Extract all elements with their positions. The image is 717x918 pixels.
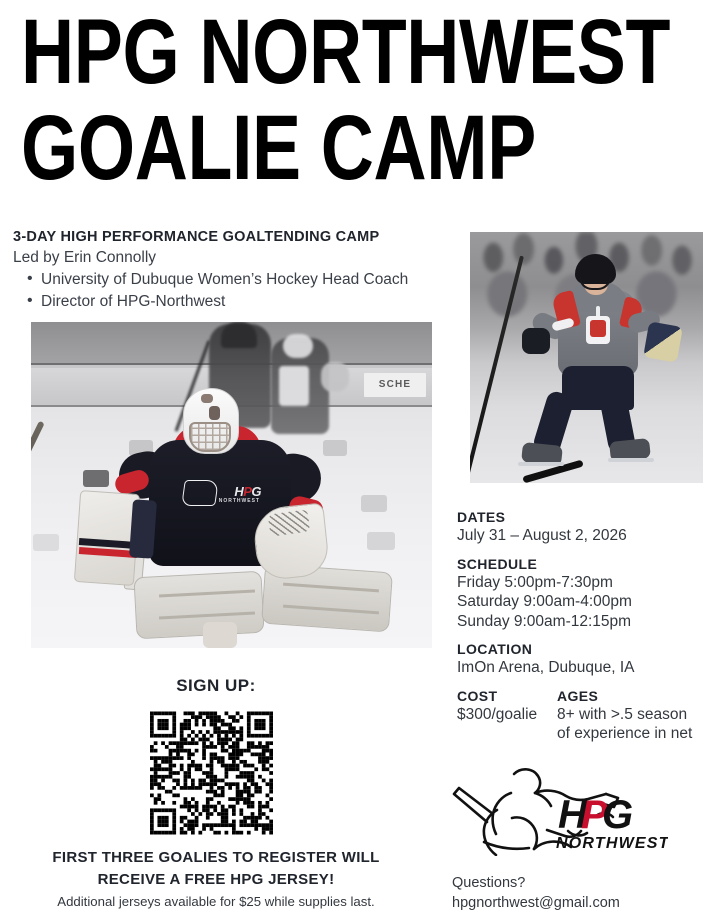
crest-letter-h: H (234, 484, 243, 499)
hpg-northwest-logo: H P G NORTHWEST (450, 756, 668, 856)
list-item: Director of HPG-Northwest (13, 291, 473, 313)
crest-letter-g: G (251, 484, 261, 499)
crest-goalie-icon (181, 480, 219, 506)
coach-blocker (643, 321, 683, 362)
schedule-saturday: Saturday 9:00am-4:00pm (457, 592, 709, 612)
puck (323, 440, 347, 456)
contact-email[interactable]: hpgnorthwest@gmail.com (452, 893, 702, 913)
background-player-two-glove (321, 362, 349, 392)
flyer-page: HPG NORTHWEST GOALIE CAMP 3-DAY HIGH PER… (0, 0, 717, 918)
location-label: LOCATION (457, 640, 709, 658)
coach-left-skate-blade (518, 462, 564, 466)
dates-label: DATES (457, 508, 709, 526)
promo-line-2: RECEIVE A FREE HPG JERSEY! (0, 869, 432, 891)
promo-line-1: FIRST THREE GOALIES TO REGISTER WILL (0, 847, 432, 869)
crest-subtext: NORTHWEST (219, 498, 260, 504)
coach-credentials-list: University of Dubuque Women’s Hockey Hea… (13, 269, 473, 312)
mask-graphic (201, 394, 213, 403)
dates-value: July 31 – August 2, 2026 (457, 526, 709, 546)
contact-block: Questions? hpgnorthwest@gmail.com (452, 873, 702, 913)
cost-value: $300/goalie (457, 705, 557, 725)
title-line-2: GOALIE CAMP (21, 100, 565, 196)
promo-block: FIRST THREE GOALIES TO REGISTER WILL REC… (0, 847, 432, 911)
schedule-sunday: Sunday 9:00am-12:15pm (457, 612, 709, 632)
background-player-two-pad (279, 366, 309, 406)
goalie-left-leg-pad (133, 571, 264, 640)
logo-subtext: NORTHWEST (556, 835, 668, 852)
cost-column: COST $300/goalie (457, 687, 557, 744)
signup-label: SIGN UP: (0, 676, 432, 696)
camp-details: DATES July 31 – August 2, 2026 SCHEDULE … (457, 508, 709, 744)
blocker-cuff (129, 499, 157, 559)
registration-qr-code[interactable] (150, 710, 273, 836)
location-value: ImOn Arena, Dubuque, IA (457, 658, 709, 678)
camp-headline: 3-DAY HIGH PERFORMANCE GOALTENDING CAMP (13, 228, 473, 247)
coach-right-skate-blade (608, 458, 654, 462)
rink-advertising-sign: SCHE (364, 373, 426, 397)
puck (33, 534, 59, 551)
logo-letter-g: G (602, 793, 632, 837)
coach-glove (522, 328, 550, 354)
cost-label: COST (457, 687, 557, 705)
goalie-skate (203, 622, 237, 648)
cost-ages-row: COST $300/goalie AGES 8+ with >.5 season… (457, 687, 709, 744)
goalie-butterfly-save-photo: SCHE HPG NORTHWE (31, 322, 432, 648)
background-player-two-helmet (283, 334, 313, 358)
puck (367, 532, 395, 550)
ages-value-line2: of experience in net (557, 724, 709, 744)
coach-skating-photo (470, 232, 703, 483)
title-line-1: HPG NORTHWEST (21, 4, 565, 100)
mask-cage (189, 422, 231, 452)
puck (83, 470, 109, 487)
ages-column: AGES 8+ with >.5 season of experience in… (557, 687, 709, 744)
questions-label: Questions? (452, 873, 702, 893)
logo-wordmark: H P G NORTHWEST (556, 793, 668, 852)
schedule-label: SCHEDULE (457, 555, 709, 573)
ages-value-line1: 8+ with >.5 season (557, 705, 709, 725)
schedule-friday: Friday 5:00pm-7:30pm (457, 573, 709, 593)
background-player-one-helmet (221, 322, 257, 348)
page-title: HPG NORTHWEST GOALIE CAMP (21, 4, 701, 196)
goalie-jersey-crest: HPG NORTHWEST (183, 478, 261, 510)
puck (361, 495, 387, 512)
list-item: University of Dubuque Women’s Hockey Hea… (13, 269, 473, 291)
led-by-text: Led by Erin Connolly (13, 247, 473, 268)
crest-wordmark: HPG (234, 484, 261, 499)
mask-graphic (209, 406, 220, 420)
ages-label: AGES (557, 687, 709, 705)
promo-fine-print: Additional jerseys available for $25 whi… (0, 892, 432, 911)
subtitle-block: 3-DAY HIGH PERFORMANCE GOALTENDING CAMP … (13, 228, 473, 312)
coach-chest-logo-inner (590, 320, 606, 337)
